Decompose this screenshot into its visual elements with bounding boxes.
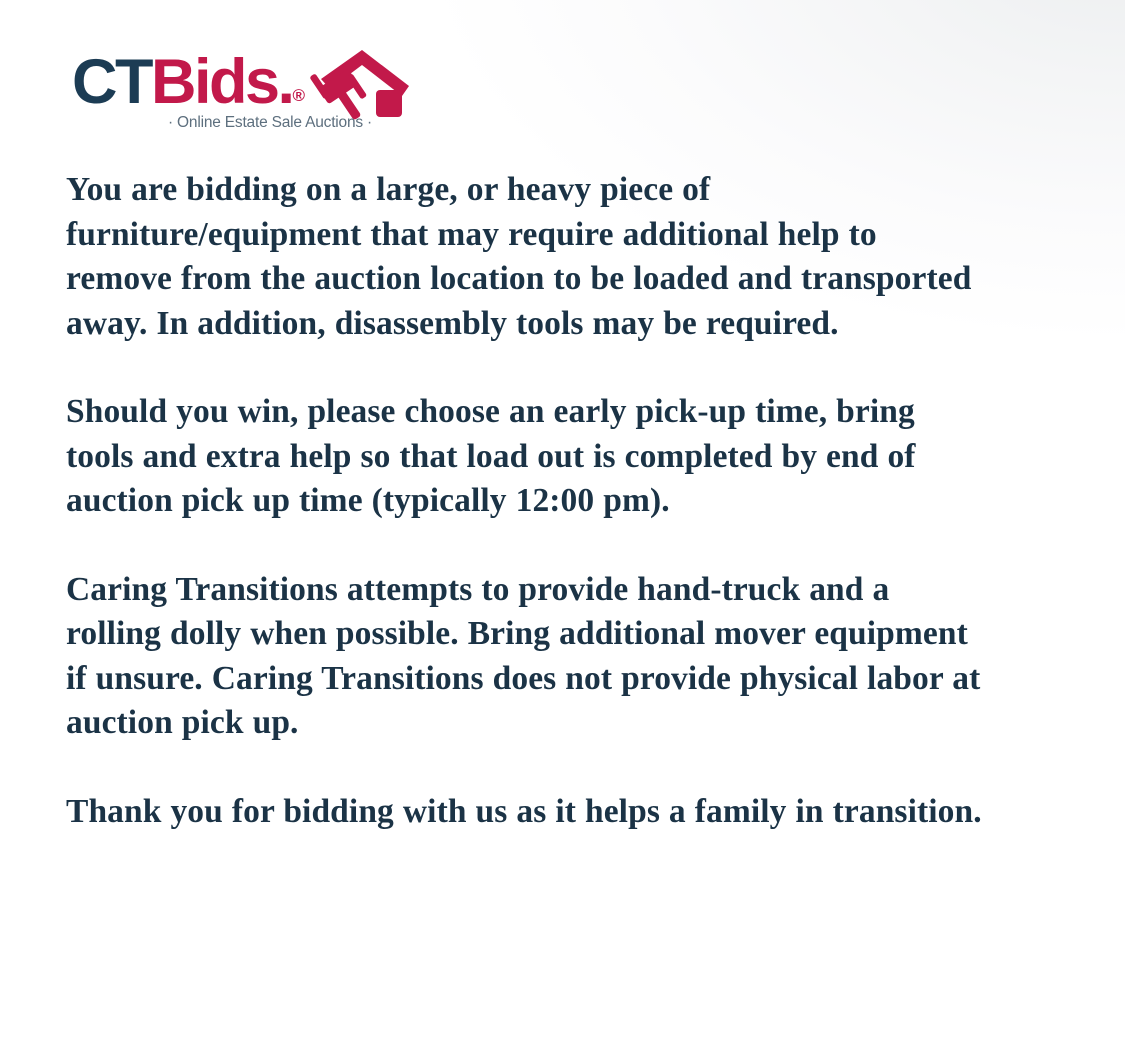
text-line: Thank you for bidding with us as it help… bbox=[66, 790, 1076, 835]
roof-gavel-icon bbox=[310, 46, 412, 124]
text-line: remove from the auction location to be l… bbox=[66, 257, 1076, 302]
paragraph-bidding-on-large-item: You are bidding on a large, or heavy pie… bbox=[66, 168, 1076, 346]
paragraph-equipment-policy: Caring Transitions attempts to provide h… bbox=[66, 568, 1076, 746]
logo-word-bids: Bids bbox=[151, 47, 278, 117]
logo-wordmark: CTBids.® bbox=[72, 52, 305, 112]
notice-page: CTBids.® · Online Estate Sale Auctions ·… bbox=[0, 0, 1125, 1064]
logo-period: . bbox=[278, 47, 293, 117]
text-line: Caring Transitions attempts to provide h… bbox=[66, 568, 1076, 613]
text-line: away. In addition, disassembly tools may… bbox=[66, 302, 1076, 347]
text-line: furniture/equipment that may require add… bbox=[66, 213, 1076, 258]
text-line: if unsure. Caring Transitions does not p… bbox=[66, 657, 1076, 702]
text-line: auction pick up time (typically 12:00 pm… bbox=[66, 479, 1076, 524]
ctbids-logo[interactable]: CTBids.® · Online Estate Sale Auctions · bbox=[72, 52, 417, 148]
paragraph-pickup-instructions: Should you win, please choose an early p… bbox=[66, 390, 1076, 524]
registered-trademark-icon: ® bbox=[293, 86, 306, 105]
logo-word-ct: CT bbox=[72, 47, 151, 117]
text-line: rolling dolly when possible. Bring addit… bbox=[66, 612, 1076, 657]
text-line: tools and extra help so that load out is… bbox=[66, 435, 1076, 480]
text-line: Should you win, please choose an early p… bbox=[66, 390, 1076, 435]
text-line: auction pick up. bbox=[66, 701, 1076, 746]
logo-tagline: · Online Estate Sale Auctions · bbox=[120, 114, 420, 132]
text-line: You are bidding on a large, or heavy pie… bbox=[66, 168, 1076, 213]
paragraph-thank-you: Thank you for bidding with us as it help… bbox=[66, 790, 1076, 835]
notice-body: You are bidding on a large, or heavy pie… bbox=[66, 168, 1076, 834]
